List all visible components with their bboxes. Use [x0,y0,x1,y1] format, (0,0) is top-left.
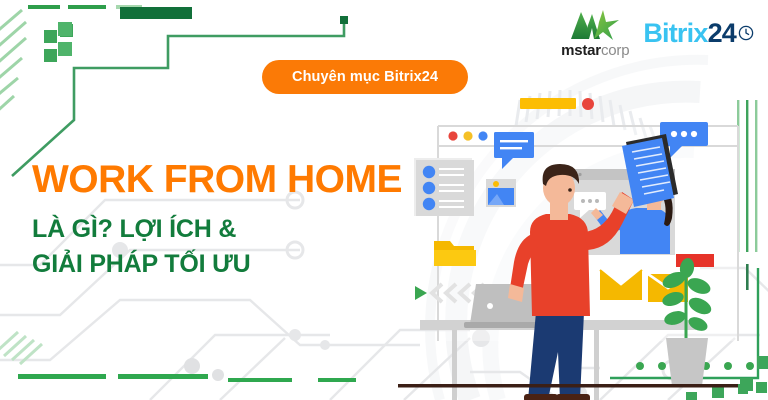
headline-block: WORK FROM HOME LÀ GÌ? LỢI ÍCH & GIẢI PHÁ… [32,160,402,282]
bottom-left-nodes [184,358,224,381]
banner-root: mstarcorp Bitrix24 Chuyên mục Bitrix24 W… [0,0,768,400]
yellow-bar-red-dot [520,98,594,110]
red-dot [582,98,594,110]
image-placeholder-icon [486,179,516,207]
work-from-home-illustration [398,84,768,400]
envelope-icon [600,270,642,300]
headline-line-1: WORK FROM HOME [32,160,402,199]
shoe [556,394,590,400]
diagonal-hatch-left [0,10,26,114]
bitrix24-dark-part: 24 [708,20,736,47]
person-icon [423,166,435,178]
bottom-green-dashes [18,374,356,382]
mstarcorp-wordmark: mstarcorp [561,43,629,58]
headline-line-3: GIẢI PHÁP TỐI ƯU [32,248,402,281]
traffic-dot-yellow [463,131,472,140]
bitrix24-logo[interactable]: Bitrix24 [643,20,754,47]
headline-line-2: LÀ GÌ? LỢI ÍCH & [32,213,402,246]
mstarcorp-bold: mstar [561,42,601,59]
contact-card [414,158,474,216]
illustration-svg [398,84,768,400]
floor-line [398,384,738,388]
bitrix24-light-part: Bitrix [643,20,707,47]
brand-row: mstarcorp Bitrix24 [561,8,754,58]
person-icon [423,198,435,210]
headline-subblock: LÀ GÌ? LỢI ÍCH & GIẢI PHÁP TỐI ƯU [32,213,402,280]
mstar-m-star-icon [567,8,623,42]
mstarcorp-light: corp [601,42,629,59]
hatch-bottom-left [0,332,42,364]
play-triangle-icon [415,286,427,300]
mstarcorp-logo[interactable]: mstarcorp [561,8,629,58]
traffic-dot-red [448,131,457,140]
shoe [524,394,558,400]
yellow-bar [520,98,576,109]
traffic-dot-blue [478,131,487,140]
clock-icon [738,25,754,41]
person-icon [423,182,435,194]
